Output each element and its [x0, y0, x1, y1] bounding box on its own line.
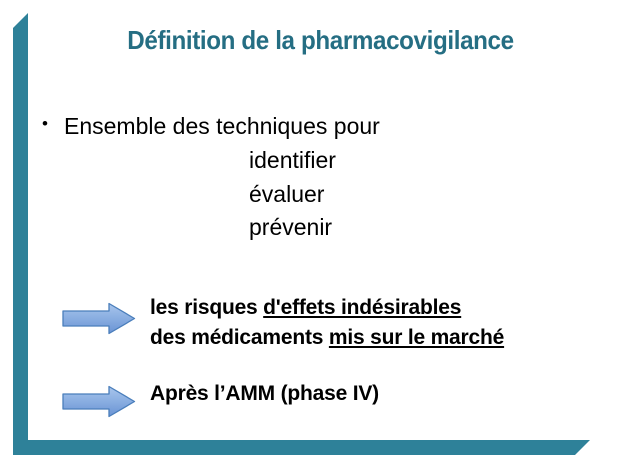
callout-line-2-plain: des médicaments — [150, 326, 329, 349]
sub-item-prevenir: prévenir — [249, 213, 332, 242]
bullet-list-item: • Ensemble des techniques pour — [42, 112, 380, 142]
right-arrow-icon — [62, 302, 136, 335]
bullet-point-icon: • — [42, 112, 64, 137]
callout-line-1-plain: les risques — [150, 296, 263, 319]
bullet-item-label: Ensemble des techniques pour — [64, 112, 380, 142]
right-arrow-icon — [62, 385, 136, 418]
sub-item-evaluer: évaluer — [249, 180, 324, 209]
callout-risques: les risques d'effets indésirables des mé… — [62, 293, 504, 353]
callout-line-1: les risques d'effets indésirables — [150, 293, 504, 323]
callout-line-2-underlined: mis sur le marché — [329, 326, 504, 349]
callout-amm-text: Après l’AMM (phase IV) — [150, 379, 379, 409]
sub-item-identifier: identifier — [249, 146, 336, 175]
callout-amm: Après l’AMM (phase IV) — [62, 379, 379, 418]
slide-content: • Ensemble des techniques pour identifie… — [0, 0, 618, 464]
callout-line-3: Après l’AMM (phase IV) — [150, 379, 379, 409]
callout-risques-text: les risques d'effets indésirables des mé… — [150, 293, 504, 353]
callout-line-3-plain: Après l’AMM (phase IV) — [150, 382, 379, 405]
callout-line-2: des médicaments mis sur le marché — [150, 323, 504, 353]
callout-line-1-underlined: d'effets indésirables — [263, 296, 461, 319]
